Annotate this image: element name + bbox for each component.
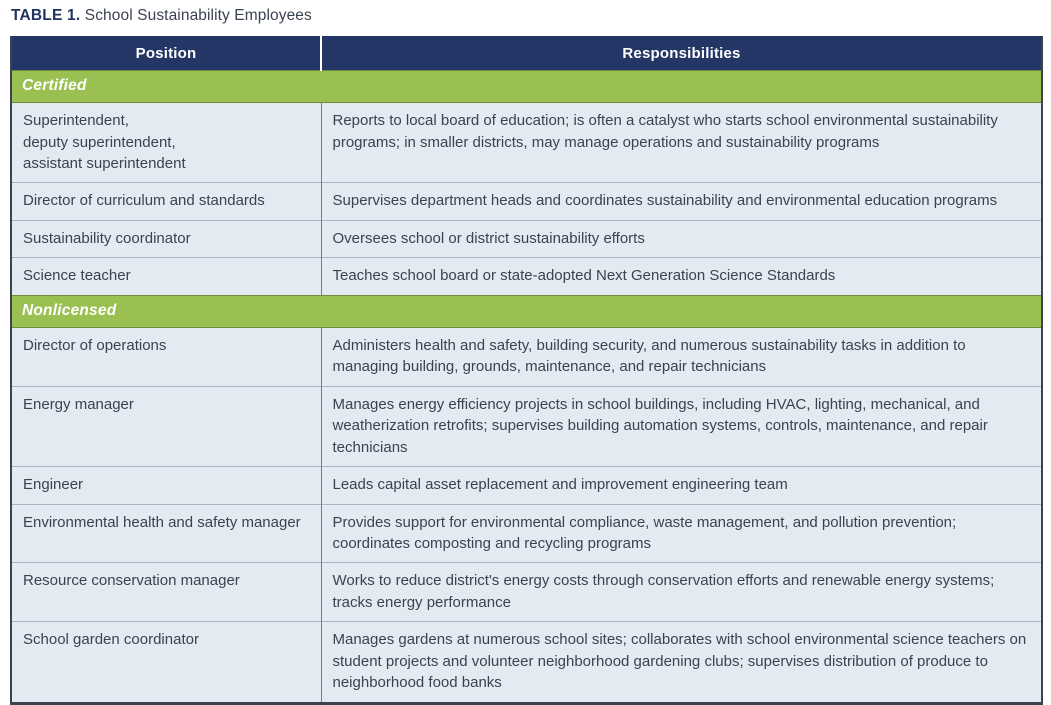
cell-responsibility: Supervises department heads and coordina… bbox=[321, 183, 1042, 220]
column-header-position: Position bbox=[11, 36, 321, 71]
cell-position: Director of operations bbox=[11, 327, 321, 386]
table-row: Environmental health and safety managerP… bbox=[11, 504, 1042, 563]
cell-position-line: Director of curriculum and standards bbox=[23, 190, 311, 211]
table-row: EngineerLeads capital asset replacement … bbox=[11, 467, 1042, 504]
table-head: Position Responsibilities bbox=[11, 36, 1042, 71]
table-section-row: Nonlicensed bbox=[11, 295, 1042, 327]
table-section-label: Certified bbox=[11, 71, 1042, 103]
table-page: TABLE 1. School Sustainability Employees… bbox=[0, 0, 1051, 662]
cell-position: Sustainability coordinator bbox=[11, 220, 321, 257]
column-header-responsibilities: Responsibilities bbox=[321, 36, 1042, 71]
table-row: Superintendent,deputy superintendent,ass… bbox=[11, 103, 1042, 183]
cell-position-line: Energy manager bbox=[23, 394, 311, 415]
table-section-label: Nonlicensed bbox=[11, 295, 1042, 327]
cell-responsibility: Oversees school or district sustainabili… bbox=[321, 220, 1042, 257]
table-container: Position Responsibilities CertifiedSuper… bbox=[10, 36, 1041, 705]
cell-position-line: Science teacher bbox=[23, 265, 311, 286]
table-caption-label: TABLE 1. bbox=[11, 7, 80, 24]
cell-responsibility: Manages gardens at numerous school sites… bbox=[321, 622, 1042, 703]
table-row: Director of operationsAdministers health… bbox=[11, 327, 1042, 386]
table-section-row: Certified bbox=[11, 71, 1042, 103]
cell-responsibility: Teaches school board or state-adopted Ne… bbox=[321, 258, 1042, 295]
table-row: Energy managerManages energy efficiency … bbox=[11, 386, 1042, 466]
cell-responsibility: Administers health and safety, building … bbox=[321, 327, 1042, 386]
cell-position-line: Director of operations bbox=[23, 335, 311, 356]
cell-position-line: Engineer bbox=[23, 474, 311, 495]
cell-position: Resource conservation manager bbox=[11, 563, 321, 622]
header-row: Position Responsibilities bbox=[11, 36, 1042, 71]
table-row: Science teacherTeaches school board or s… bbox=[11, 258, 1042, 295]
table-row: School garden coordinatorManages gardens… bbox=[11, 622, 1042, 703]
cell-position-line: Superintendent, bbox=[23, 110, 311, 131]
table-body: CertifiedSuperintendent,deputy superinte… bbox=[11, 71, 1042, 704]
cell-position: Director of curriculum and standards bbox=[11, 183, 321, 220]
cell-responsibility: Manages energy efficiency projects in sc… bbox=[321, 386, 1042, 466]
cell-position-line: Resource conservation manager bbox=[23, 570, 311, 591]
sustainability-employees-table: Position Responsibilities CertifiedSuper… bbox=[10, 36, 1043, 705]
table-caption: TABLE 1. School Sustainability Employees bbox=[11, 7, 312, 25]
cell-responsibility: Reports to local board of education; is … bbox=[321, 103, 1042, 183]
cell-responsibility: Provides support for environmental compl… bbox=[321, 504, 1042, 563]
table-row: Director of curriculum and standardsSupe… bbox=[11, 183, 1042, 220]
cell-position-line: School garden coordinator bbox=[23, 629, 311, 650]
cell-position-line: deputy superintendent, bbox=[23, 132, 311, 153]
table-row: Sustainability coordinatorOversees schoo… bbox=[11, 220, 1042, 257]
cell-position: Science teacher bbox=[11, 258, 321, 295]
cell-responsibility: Works to reduce district's energy costs … bbox=[321, 563, 1042, 622]
table-caption-title: School Sustainability Employees bbox=[80, 7, 312, 24]
cell-position-line: assistant superintendent bbox=[23, 153, 311, 174]
table-row: Resource conservation managerWorks to re… bbox=[11, 563, 1042, 622]
cell-position: Energy manager bbox=[11, 386, 321, 466]
cell-position: School garden coordinator bbox=[11, 622, 321, 703]
cell-position: Environmental health and safety manager bbox=[11, 504, 321, 563]
cell-position: Superintendent,deputy superintendent,ass… bbox=[11, 103, 321, 183]
cell-position: Engineer bbox=[11, 467, 321, 504]
cell-position-line: Sustainability coordinator bbox=[23, 228, 311, 249]
cell-responsibility: Leads capital asset replacement and impr… bbox=[321, 467, 1042, 504]
cell-position-line: Environmental health and safety manager bbox=[23, 512, 311, 533]
